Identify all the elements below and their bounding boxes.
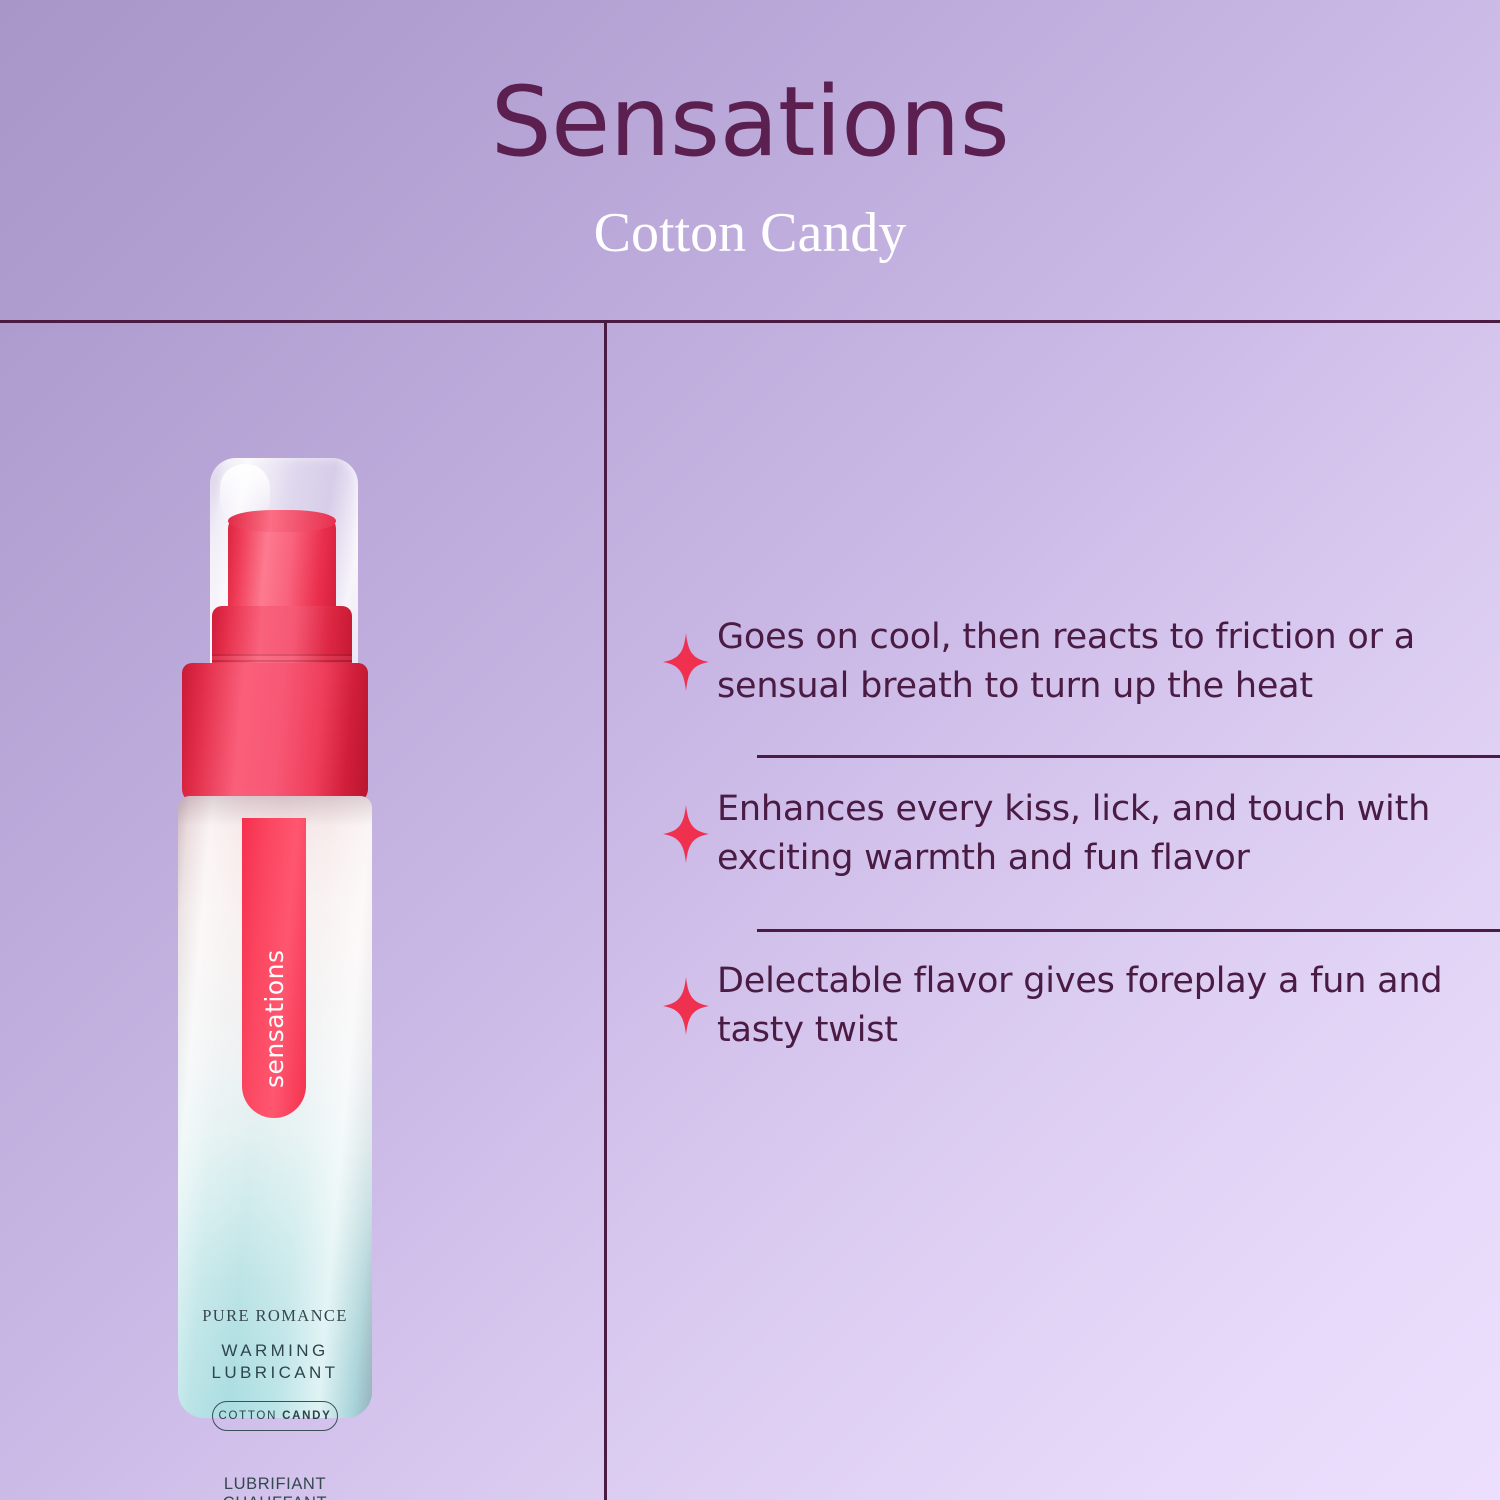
- header: Sensations Cotton Candy: [0, 0, 1500, 322]
- label-flavor-word-1: COTTON: [219, 1410, 278, 1422]
- bottle-label: PURE ROMANCE WARMING LUBRICANT COTTON CA…: [178, 1306, 372, 1500]
- bottle-pump-head-top: [228, 510, 336, 532]
- page-subtitle: Cotton Candy: [0, 205, 1500, 261]
- label-product-type-line-1: WARMING: [178, 1340, 372, 1362]
- label-flavor-badge: COTTON CANDY: [212, 1401, 338, 1431]
- page-title: Sensations: [0, 74, 1500, 170]
- feature-separator: [757, 929, 1500, 932]
- label-product-type: WARMING LUBRICANT: [178, 1340, 372, 1384]
- product-marketing-page: Sensations Cotton Candy sensations PURE …: [0, 0, 1500, 1500]
- label-french-name: LUBRIFIANT CHAUFFANT: [178, 1475, 372, 1500]
- sparkle-icon: [655, 631, 717, 693]
- features-panel: Goes on cool, then reacts to friction or…: [605, 323, 1500, 1500]
- product-bottle: sensations PURE ROMANCE WARMING LUBRICAN…: [168, 458, 382, 1418]
- bottle-collar: [182, 663, 368, 803]
- label-flavor-word-2: CANDY: [282, 1410, 331, 1422]
- feature-item: Goes on cool, then reacts to friction or…: [605, 613, 1500, 711]
- feature-text: Enhances every kiss, lick, and touch wit…: [717, 785, 1457, 883]
- label-product-type-line-2: LUBRICANT: [178, 1362, 372, 1384]
- sparkle-icon: [655, 975, 717, 1037]
- sparkle-icon: [655, 803, 717, 865]
- bottle-brand-tab: sensations: [242, 818, 306, 1118]
- feature-separator: [757, 755, 1500, 758]
- feature-item: Delectable flavor gives foreplay a fun a…: [605, 957, 1500, 1055]
- feature-text: Goes on cool, then reacts to friction or…: [717, 613, 1457, 711]
- feature-item: Enhances every kiss, lick, and touch wit…: [605, 785, 1500, 883]
- bottle-wordmark: sensations: [242, 800, 306, 1100]
- product-image-panel: sensations PURE ROMANCE WARMING LUBRICAN…: [0, 323, 604, 1500]
- feature-text: Delectable flavor gives foreplay a fun a…: [717, 957, 1457, 1055]
- label-brand: PURE ROMANCE: [178, 1306, 372, 1326]
